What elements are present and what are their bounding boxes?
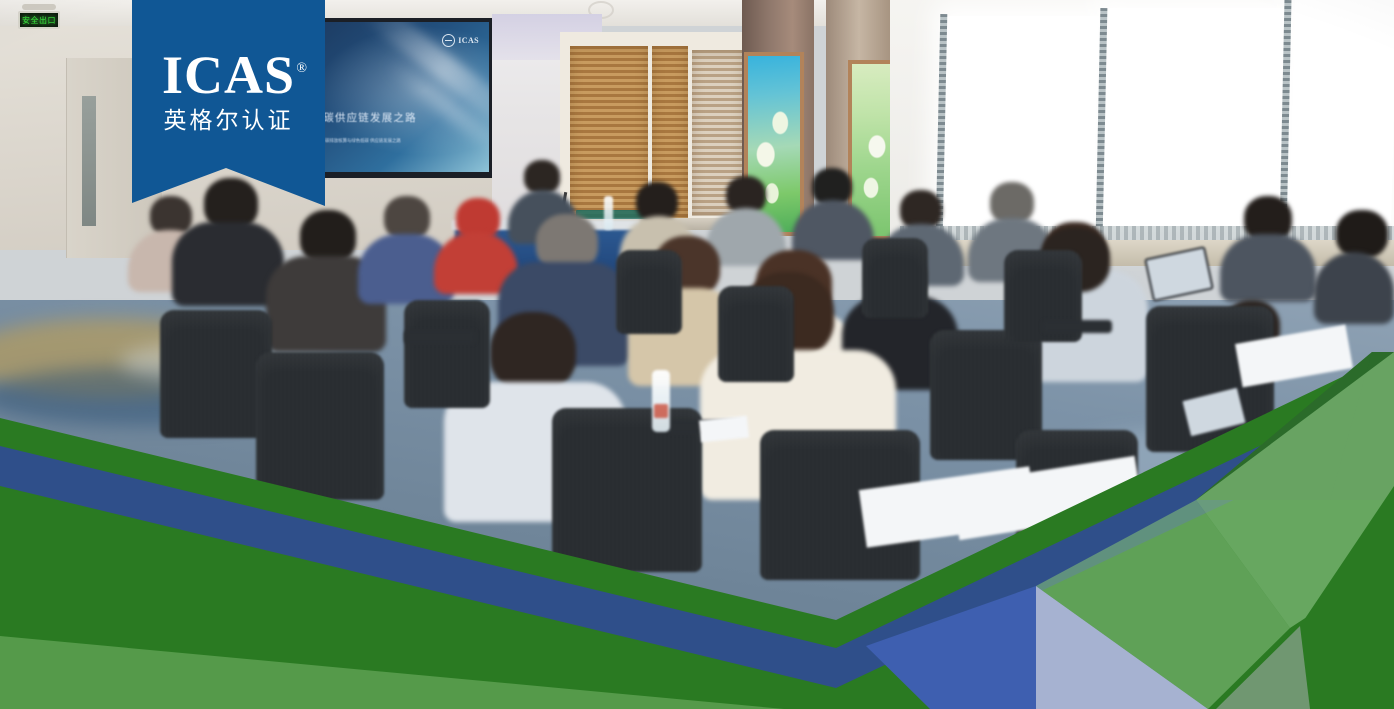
banner-canvas: 安全出口 ICAS 来 核算与绿色低碳供应链发展之路 碳排放核算与绿色低碳 供应…	[0, 0, 1394, 709]
logo-wordmark: ICAS ®	[162, 48, 295, 102]
registered-trademark-icon: ®	[296, 42, 308, 96]
logo-wordmark-text: ICAS	[162, 45, 295, 105]
logo-content: ICAS ® 英格尔认证	[132, 0, 325, 206]
logo-chinese-name: 英格尔认证	[164, 108, 294, 134]
icas-logo-block: ICAS ® 英格尔认证	[0, 0, 1394, 240]
